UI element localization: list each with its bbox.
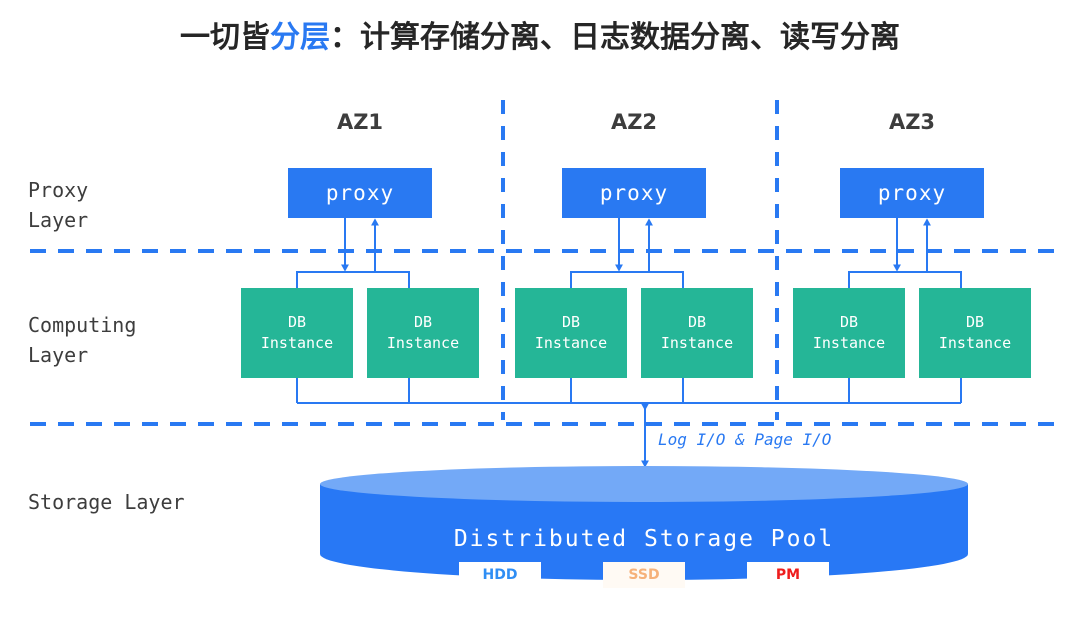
db-instance-az3-2[interactable]: DB Instance [919, 288, 1031, 378]
db-instance-az1-2[interactable]: DB Instance [367, 288, 479, 378]
layer-label-proxy: Proxy Layer [28, 175, 88, 235]
db-instance-title: DB [840, 312, 858, 333]
media-badge-ssd[interactable]: SSD [603, 562, 685, 588]
db-instance-az2-1[interactable]: DB Instance [515, 288, 627, 378]
title-before: 一切皆 [180, 20, 270, 55]
db-instance-subtitle: Instance [261, 333, 333, 354]
az-label-az3: AZ3 [832, 110, 992, 134]
layer-label-computing: Computing Layer [28, 310, 136, 370]
db-instance-subtitle: Instance [387, 333, 459, 354]
title-after: ：计算存储分离、日志数据分离、读写分离 [330, 20, 900, 55]
db-instance-title: DB [966, 312, 984, 333]
storage-media-row: HDD SSD PM [320, 562, 968, 588]
db-instance-az2-2[interactable]: DB Instance [641, 288, 753, 378]
page-title: 一切皆分层：计算存储分离、日志数据分离、读写分离 [0, 12, 1080, 56]
media-badge-hdd[interactable]: HDD [459, 562, 541, 588]
proxy-box-az1[interactable]: proxy [288, 168, 432, 218]
db-instance-az3-1[interactable]: DB Instance [793, 288, 905, 378]
db-instance-subtitle: Instance [535, 333, 607, 354]
db-instance-title: DB [414, 312, 432, 333]
diagram-canvas: 一切皆分层：计算存储分离、日志数据分离、读写分离 [0, 0, 1080, 622]
media-badge-pm[interactable]: PM [747, 562, 829, 588]
storage-io-label: Log I/O & Page I/O [658, 430, 831, 449]
layer-label-storage: Storage Layer [28, 487, 185, 517]
proxy-box-az3[interactable]: proxy [840, 168, 984, 218]
db-instance-subtitle: Instance [813, 333, 885, 354]
az-label-az1: AZ1 [280, 110, 440, 134]
cylinder-top-ellipse [320, 466, 968, 502]
az-label-az2: AZ2 [554, 110, 714, 134]
db-instance-az1-1[interactable]: DB Instance [241, 288, 353, 378]
title-highlight: 分层 [270, 20, 330, 55]
db-instance-title: DB [562, 312, 580, 333]
db-instance-subtitle: Instance [939, 333, 1011, 354]
db-instance-title: DB [688, 312, 706, 333]
distributed-storage-pool[interactable]: Distributed Storage Pool HDD SSD PM [320, 466, 968, 598]
storage-pool-title: Distributed Storage Pool [320, 526, 968, 552]
proxy-box-az2[interactable]: proxy [562, 168, 706, 218]
db-instance-subtitle: Instance [661, 333, 733, 354]
db-instance-title: DB [288, 312, 306, 333]
